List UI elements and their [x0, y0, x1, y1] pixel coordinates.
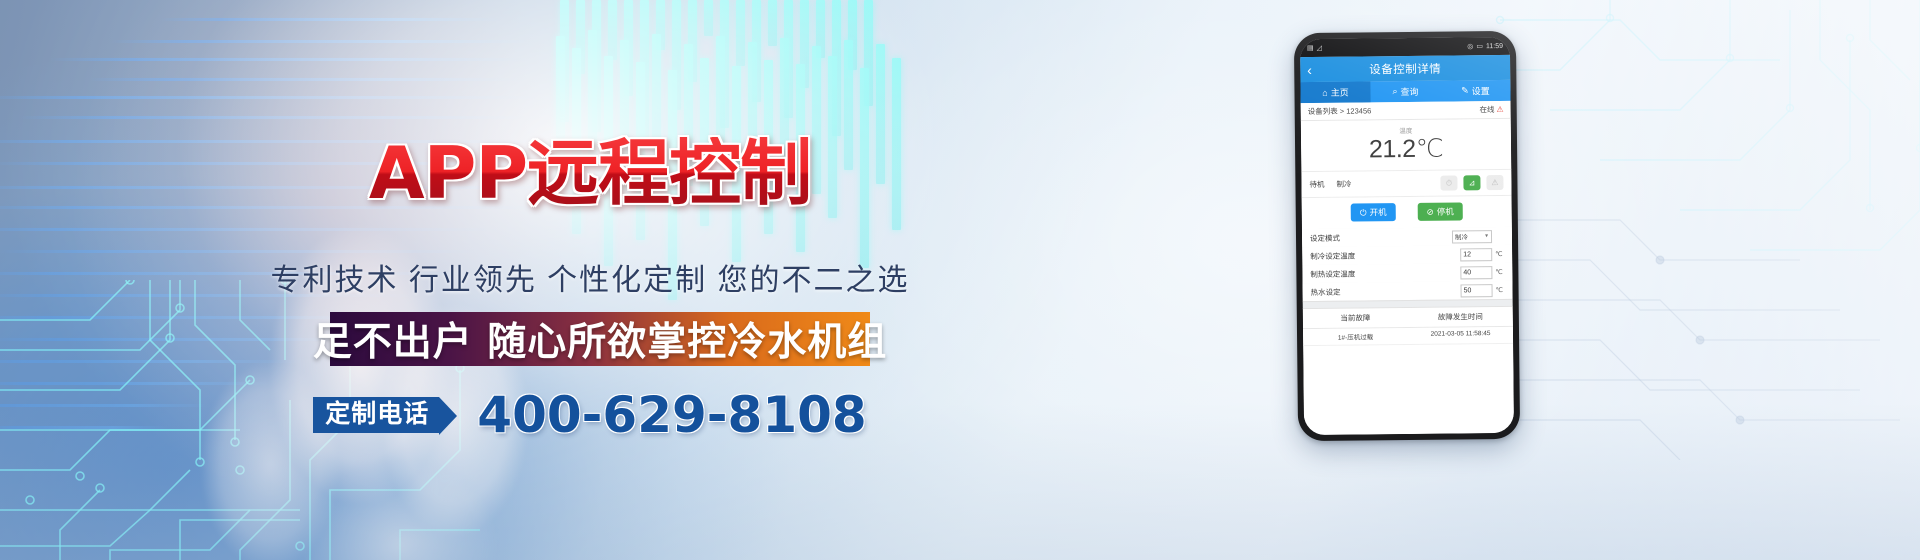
location-icon: ◎ [1467, 42, 1473, 50]
setting-label-heat-temp: 制热设定温度 [1310, 268, 1355, 279]
power-on-button[interactable]: ⏻ 开机 [1351, 203, 1396, 221]
chart-icon[interactable]: ⊿ [1463, 175, 1480, 190]
machine-status-row: 待机 制冷 ⏱ ⊿ ⚠ [1301, 170, 1511, 198]
status-time: 11:59 [1486, 42, 1503, 49]
table-row[interactable]: 1#-压机过载 2021-03-05 11:58:45 [1303, 327, 1513, 346]
phone-status-bar: ▤ ◿ ◎ ▭ 11:59 [1300, 37, 1510, 57]
mode-select[interactable]: 制冷 ▼ [1452, 230, 1492, 243]
fault-cell-time: 2021-03-05 11:58:45 [1408, 330, 1513, 341]
promo-banner: APP远程控制 专利技术 行业领先 个性化定制 您的不二之选 足不出户 随心所欲… [0, 0, 1920, 560]
power-button-row: ⏻ 开机 ⊘ 停机 [1302, 196, 1512, 229]
contact-phone-number[interactable]: 400-629-8108 [477, 386, 866, 444]
device-status: 在线 ⚠ [1479, 104, 1503, 115]
hero-highlight-strip: 足不出户 随心所欲掌控冷水机组 [330, 312, 870, 366]
tab-home-label: 主页 [1331, 86, 1349, 99]
signal-icon: ◿ [1317, 44, 1322, 52]
breadcrumb-path[interactable]: 设备列表 > 123456 [1308, 105, 1372, 117]
chevron-left-icon[interactable]: ‹ [1307, 62, 1312, 76]
stop-icon: ⊘ [1426, 206, 1433, 217]
phone-nav-title: 设备控制详情 [1300, 59, 1510, 77]
phone-mockup: ▤ ◿ ◎ ▭ 11:59 ‹ 设备控制详情 ⌂ 主 [1294, 31, 1520, 441]
fault-cell-name: 1#-压机过载 [1303, 331, 1408, 342]
fault-header-name: 当前故障 [1303, 312, 1408, 324]
power-off-label: 停机 [1437, 206, 1454, 218]
setting-control-mode: 制冷 ▼ [1452, 230, 1504, 244]
hero-text-block: APP远程控制 专利技术 行业领先 个性化定制 您的不二之选 足不出户 随心所欲… [0, 0, 1180, 560]
tab-settings-label: 设置 [1472, 84, 1490, 97]
warning-triangle-icon[interactable]: ⚠ [1496, 105, 1503, 114]
setting-control-cool-temp: 12 ℃ [1460, 248, 1504, 261]
tab-query[interactable]: ⌕ 查询 [1370, 81, 1440, 103]
machine-mode: 制冷 [1336, 179, 1351, 190]
cool-temp-input[interactable]: 12 [1460, 248, 1492, 261]
setting-row-heat-temp: 制热设定温度 40 ℃ [1302, 263, 1512, 283]
phone-screen: ▤ ◿ ◎ ▭ 11:59 ‹ 设备控制详情 ⌂ 主 [1300, 37, 1514, 435]
status-left-icons: ▤ ◿ [1307, 44, 1322, 52]
device-status-label: 在线 [1479, 104, 1494, 115]
fault-header-time: 故障发生时间 [1408, 311, 1513, 323]
temperature-value: 21.2℃ [1301, 135, 1511, 163]
setting-row-cool-temp: 制冷设定温度 12 ℃ [1302, 245, 1512, 265]
breadcrumb: 设备列表 > 123456 在线 ⚠ [1301, 101, 1511, 121]
mode-select-value: 制冷 [1455, 232, 1468, 242]
setting-label-mode: 设定模式 [1310, 232, 1340, 243]
setting-unit-hot-water: ℃ [1496, 286, 1505, 294]
tab-settings[interactable]: ✎ 设置 [1440, 80, 1510, 102]
phone-tab-bar: ⌂ 主页 ⌕ 查询 ✎ 设置 [1300, 80, 1510, 103]
heat-temp-input[interactable]: 40 [1460, 266, 1492, 279]
setting-unit-cool-temp: ℃ [1495, 250, 1504, 258]
fault-table-empty-area [1303, 344, 1514, 435]
contact-row: 定制电话 400-629-8108 [0, 386, 1180, 444]
setting-unit-heat-temp: ℃ [1495, 268, 1504, 276]
power-off-button[interactable]: ⊘ 停机 [1417, 203, 1462, 221]
phone-nav-bar: ‹ 设备控制详情 [1300, 55, 1510, 82]
quick-action-icons: ⏱ ⊿ ⚠ [1440, 175, 1503, 191]
tab-query-label: 查询 [1400, 85, 1418, 98]
setting-control-hot-water: 50 ℃ [1461, 284, 1505, 297]
sim-icon: ▤ [1307, 44, 1314, 52]
machine-state: 待机 [1309, 179, 1324, 190]
tab-home[interactable]: ⌂ 主页 [1300, 81, 1370, 103]
setting-label-cool-temp: 制冷设定温度 [1310, 250, 1355, 261]
setting-row-mode: 设定模式 制冷 ▼ [1302, 227, 1512, 247]
fault-table-header: 当前故障 故障发生时间 [1303, 307, 1513, 329]
search-icon: ⌕ [1392, 86, 1397, 97]
hot-water-input[interactable]: 50 [1461, 284, 1493, 297]
setting-label-hot-water: 热水设定 [1311, 286, 1341, 297]
home-icon: ⌂ [1322, 87, 1328, 97]
status-right-icons: ◎ ▭ 11:59 [1467, 42, 1503, 50]
hero-strip-text: 足不出户 随心所欲掌控冷水机组 [313, 311, 888, 367]
alarm-triangle-icon[interactable]: ⚠ [1486, 175, 1503, 190]
power-icon: ⏻ [1360, 207, 1367, 218]
battery-icon: ▭ [1476, 42, 1483, 50]
page-title: APP远程控制 [0, 137, 1180, 209]
hero-subtitle: 专利技术 行业领先 个性化定制 您的不二之选 [0, 255, 1180, 299]
setting-row-hot-water: 热水设定 50 ℃ [1302, 281, 1512, 301]
temperature-card: 温度 21.2℃ [1301, 119, 1512, 172]
chevron-down-icon: ▼ [1484, 233, 1489, 239]
contact-tag-label: 定制电话 [313, 397, 439, 432]
phone-bezel: ▤ ◿ ◎ ▭ 11:59 ‹ 设备控制详情 ⌂ 主 [1300, 37, 1514, 435]
power-on-label: 开机 [1369, 206, 1386, 218]
setting-control-heat-temp: 40 ℃ [1460, 266, 1504, 279]
wrench-icon: ✎ [1461, 85, 1469, 96]
timer-icon[interactable]: ⏱ [1440, 176, 1457, 191]
